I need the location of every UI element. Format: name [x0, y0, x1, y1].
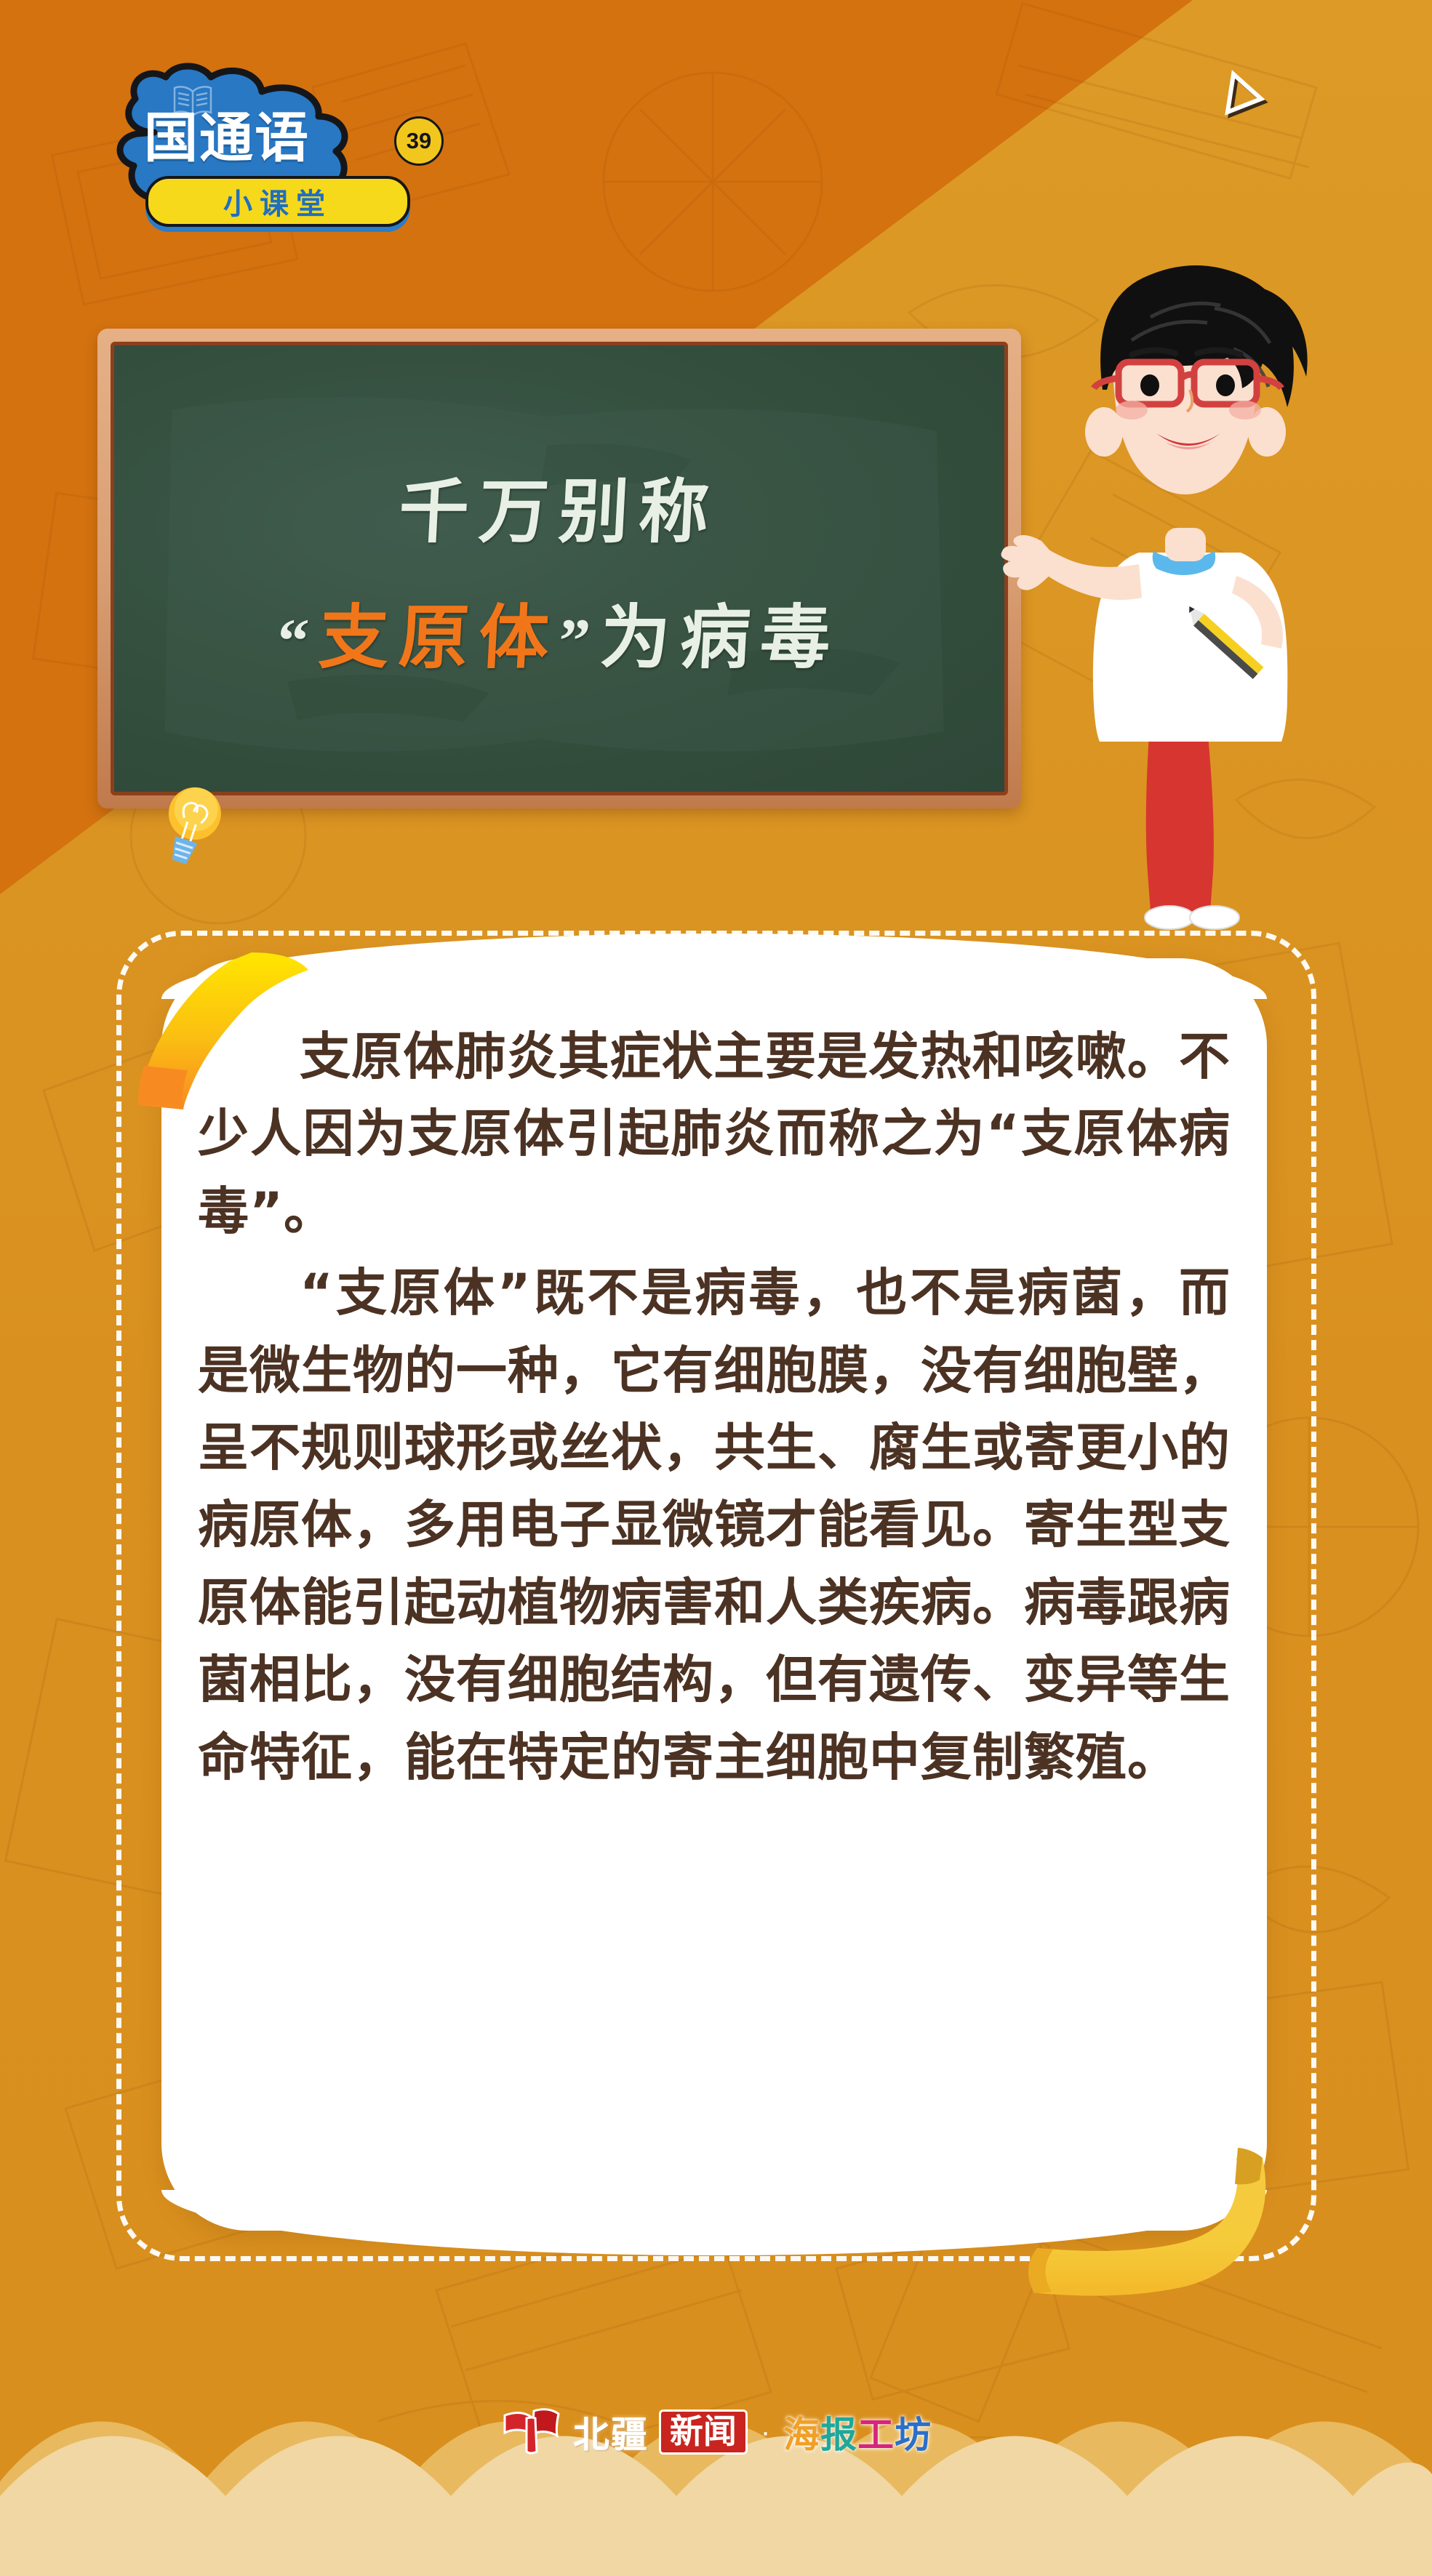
blackboard-highlight-term: 支原体	[317, 599, 561, 677]
footer-studio-char-1: 海	[783, 2415, 820, 2455]
red-flag-icon	[500, 2408, 563, 2456]
chalk-smudge-texture	[114, 345, 1004, 792]
student-boy-illustration	[996, 247, 1375, 923]
footer-brand: 北疆	[573, 2406, 649, 2458]
blackboard-line-1: 千万别称	[396, 455, 721, 556]
quote-open: “	[276, 606, 321, 675]
footer-studio: 海报工坊	[783, 2406, 932, 2458]
footer-badge: 新闻	[659, 2410, 748, 2455]
logo-title: 国通语	[144, 105, 384, 172]
poster-root: 国通语 39 小课堂 千万别称 “支原体”为病毒	[0, 0, 1432, 2576]
footer-branding: 北疆 新闻 · 海报工坊	[0, 2392, 1432, 2472]
blackboard-line2-rest: 为病毒	[599, 599, 843, 677]
blackboard-surface: 千万别称 “支原体”为病毒	[111, 342, 1008, 795]
footer-studio-char-4: 坊	[895, 2415, 932, 2455]
blackboard-line-2: “支原体”为病毒	[275, 581, 843, 682]
logo-subtitle: 小课堂	[145, 176, 410, 227]
logo-episode-number: 39	[394, 116, 444, 166]
quote-close: ”	[557, 606, 602, 675]
footer-separator: ·	[761, 2416, 770, 2449]
footer-studio-char-2: 报	[820, 2415, 857, 2455]
article-body: 支原体肺炎其症状主要是发热和咳嗽。不少人因为支原体引起肺炎而称之为“支原体病毒”…	[198, 1018, 1231, 1800]
footer-studio-char-3: 工	[857, 2415, 895, 2455]
logo-badge[interactable]: 国通语 39 小课堂	[103, 70, 445, 230]
blackboard: 千万别称 “支原体”为病毒	[97, 329, 1021, 808]
lightbulb-icon	[154, 779, 227, 874]
paragraph-1: 支原体肺炎其症状主要是发热和咳嗽。不少人因为支原体引起肺炎而称之为“支原体病毒”…	[198, 1018, 1231, 1250]
ribbon-bottom-right	[1004, 2101, 1324, 2298]
paragraph-2: “支原体”既不是病毒，也不是病菌，而是微生物的一种，它有细胞膜，没有细胞壁，呈不…	[198, 1254, 1231, 1796]
play-triangle-icon[interactable]	[1226, 73, 1267, 119]
